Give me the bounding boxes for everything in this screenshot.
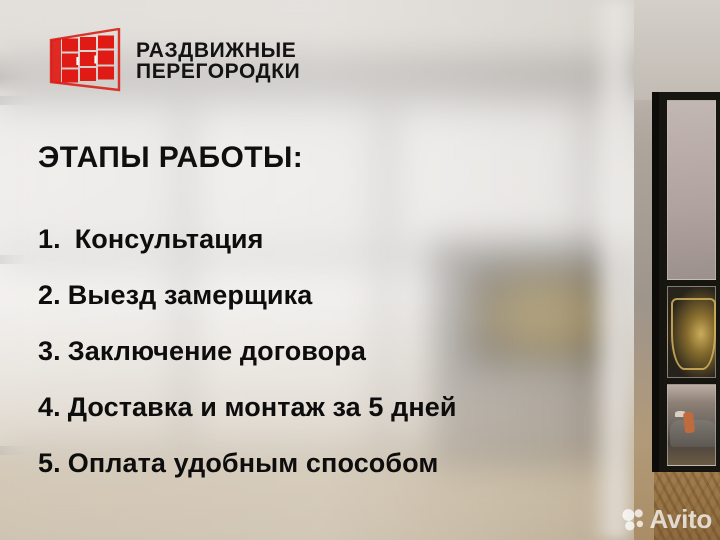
avito-wordmark: Avito: [649, 506, 712, 532]
strip-cushion: [683, 412, 695, 434]
brand-wordmark: РАЗДВИЖНЫЕ ПЕРЕГОРОДКИ: [136, 40, 300, 83]
step-label: Консультация: [75, 224, 264, 255]
step-label: Выезд замерщика: [68, 280, 313, 311]
list-item: 4. Доставка и монтаж за 5 дней: [38, 392, 678, 448]
sliding-partition-icon: [48, 28, 122, 94]
step-number: 5.: [38, 448, 61, 479]
list-item: 5. Оплата удобным способом: [38, 448, 678, 504]
list-item: 2. Выезд замерщика: [38, 280, 678, 336]
step-label: Заключение договора: [68, 336, 366, 367]
strip-ceiling: [634, 0, 720, 100]
brand-line-1: РАЗДВИЖНЫЕ: [136, 40, 300, 61]
avito-dots-icon: [622, 508, 645, 531]
step-number: 1.: [38, 224, 61, 255]
list-item: 3. Заключение договора: [38, 336, 678, 392]
step-number: 2.: [38, 280, 61, 311]
step-label: Оплата удобным способом: [68, 448, 439, 479]
brand-logo: РАЗДВИЖНЫЕ ПЕРЕГОРОДКИ: [48, 28, 300, 94]
promo-poster: РАЗДВИЖНЫЕ ПЕРЕГОРОДКИ ЭТАПЫ РАБОТЫ: 1. …: [0, 0, 720, 540]
page-title: ЭТАПЫ РАБОТЫ:: [38, 141, 303, 175]
step-number: 4.: [38, 392, 61, 423]
steps-list: 1. Консультация 2. Выезд замерщика 3. За…: [38, 224, 678, 504]
avito-watermark: Avito: [622, 506, 712, 532]
step-number: 3.: [38, 336, 61, 367]
brand-line-2: ПЕРЕГОРОДКИ: [136, 61, 300, 82]
step-label: Доставка и монтаж за 5 дней: [68, 392, 457, 423]
list-item: 1. Консультация: [38, 224, 678, 280]
